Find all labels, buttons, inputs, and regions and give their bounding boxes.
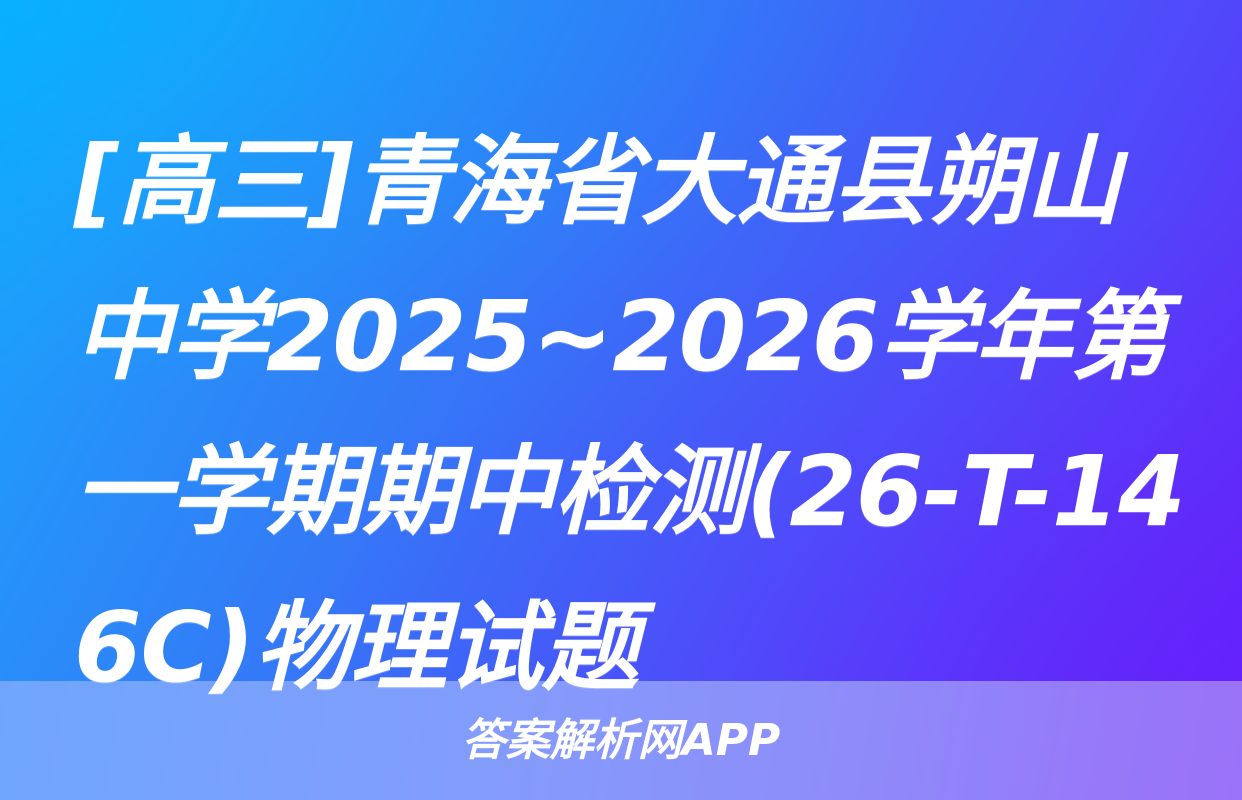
page-title-line-1: [高三]青海省大通县朔山 — [74, 104, 1174, 259]
page-title-line-2: 中学2025~2026学年第 — [74, 259, 1174, 414]
page-title: [高三]青海省大通县朔山 中学2025~2026学年第 一学期期中检测(26-T… — [74, 104, 1174, 725]
brand-watermark-label: 答案解析网APP — [462, 719, 781, 763]
page-title-line-4: 6C)物理试题 — [74, 570, 1174, 725]
exam-cover-card: [高三]青海省大通县朔山 中学2025~2026学年第 一学期期中检测(26-T… — [0, 0, 1242, 800]
page-title-line-3: 一学期期中检测(26-T-14 — [74, 414, 1174, 569]
